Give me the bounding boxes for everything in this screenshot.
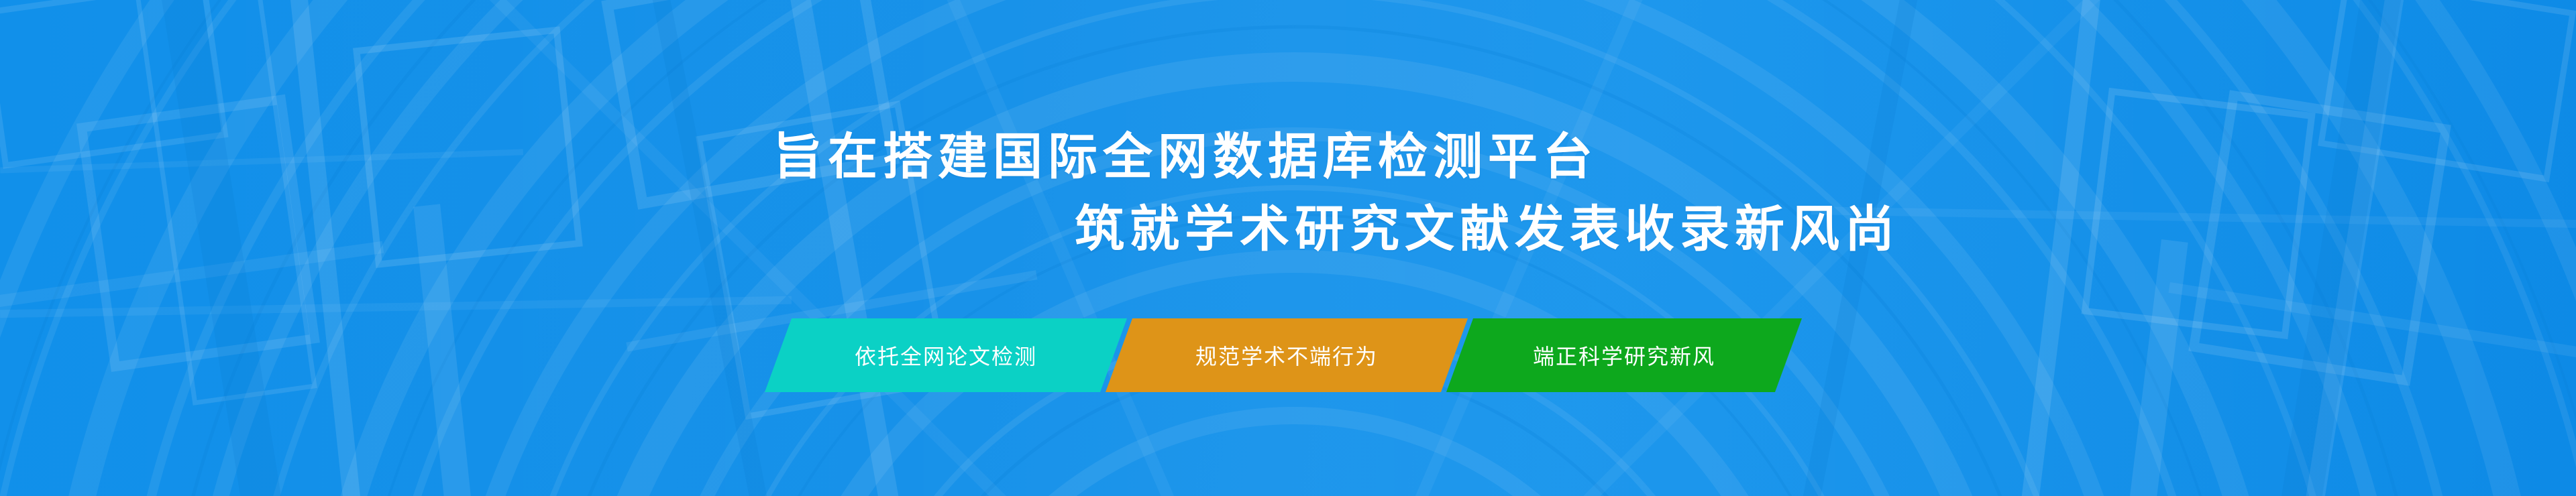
feature-tag-label: 依托全网论文检测 [848, 340, 1044, 371]
promo-banner: 旨在搭建国际全网数据库检测平台 筑就学术研究文献发表收录新风尚 依托全网论文检测… [0, 0, 2576, 496]
feature-tag-label: 规范学术不端行为 [1189, 340, 1385, 371]
feature-tag-label: 端正科学研究新风 [1526, 340, 1722, 371]
banner-decoration [0, 0, 2576, 496]
feature-tag-list: 依托全网论文检测 规范学术不端行为 端正科学研究新风 [778, 318, 1788, 392]
feature-tag-research-integrity[interactable]: 端正科学研究新风 [1446, 318, 1802, 392]
feature-tag-academic-misconduct[interactable]: 规范学术不端行为 [1106, 318, 1468, 392]
feature-tag-paper-detection[interactable]: 依托全网论文检测 [765, 318, 1127, 392]
